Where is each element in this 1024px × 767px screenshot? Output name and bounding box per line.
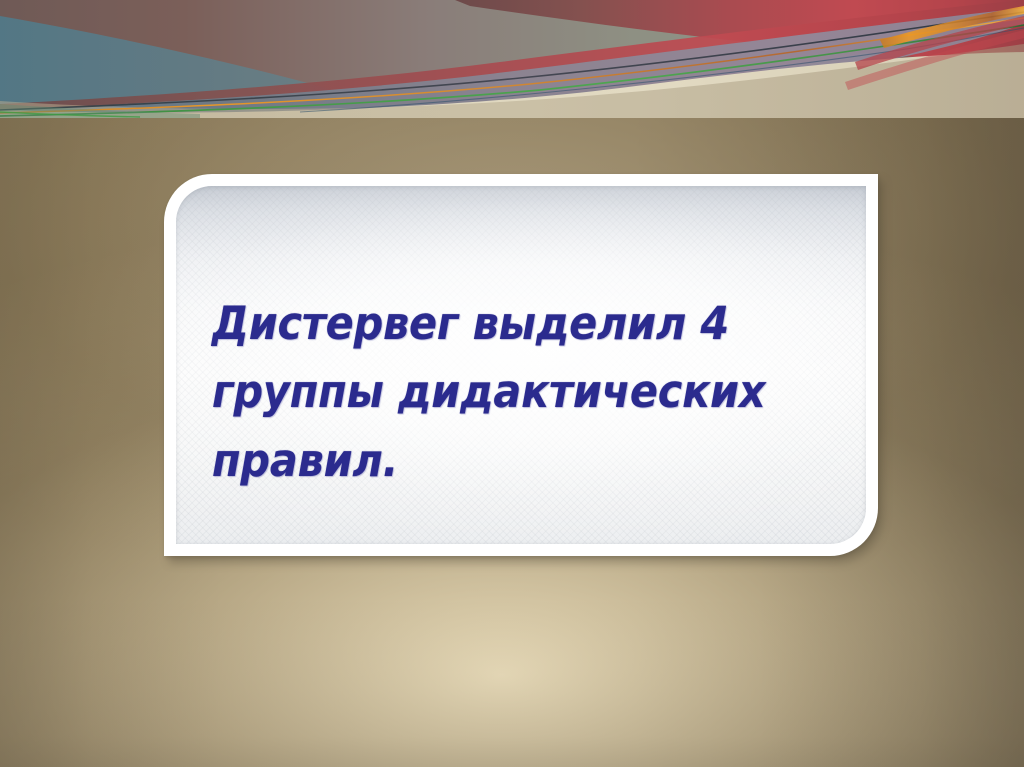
top-wave-ribbon xyxy=(0,0,1024,118)
presentation-slide: Дистервег выделил 4 группы дидактических… xyxy=(0,0,1024,767)
content-card-panel: Дистервег выделил 4 группы дидактических… xyxy=(176,186,866,544)
slide-title-text: Дистервег выделил 4 группы дидактических… xyxy=(212,290,786,495)
content-card: Дистервег выделил 4 группы дидактических… xyxy=(164,174,878,556)
